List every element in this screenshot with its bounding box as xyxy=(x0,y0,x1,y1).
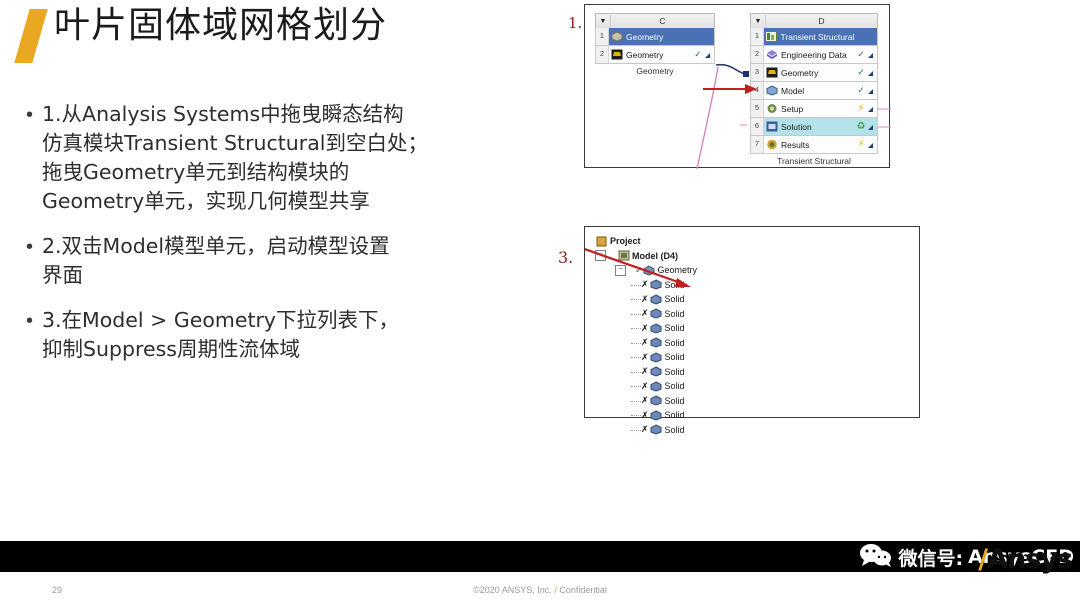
wechat-icon xyxy=(859,543,893,572)
model-tree-panel: Project − Model (D4) − ✓ Geometry ✗Solid xyxy=(584,226,920,418)
suppressed-icon: ✗ xyxy=(641,381,649,392)
tree-guide xyxy=(631,342,641,344)
collapse-icon[interactable]: − xyxy=(615,265,626,276)
tree-guide xyxy=(631,371,641,373)
tree-guide xyxy=(631,313,641,315)
page-title: 叶片固体域网格划分 xyxy=(22,6,387,63)
tree-guide xyxy=(631,356,641,358)
solid-body-icon xyxy=(650,366,663,377)
list-item[interactable]: ✗Solid xyxy=(593,336,697,351)
workbench-cell-row[interactable]: 1Geometry xyxy=(595,28,715,46)
resize-handle[interactable] xyxy=(868,122,877,132)
cell-status: ✓ xyxy=(691,49,705,60)
solid-body-icon xyxy=(650,323,663,334)
suppressed-icon: ✗ xyxy=(641,337,649,348)
resize-handle[interactable] xyxy=(705,50,714,60)
suppressed-icon: ✗ xyxy=(641,323,649,334)
list-item: • 2.双击Model模型单元，启动模型设置 界面 xyxy=(26,232,496,290)
tree-label: Solid xyxy=(663,309,685,319)
tree-label: Solid xyxy=(663,410,685,420)
suppressed-icon: ✗ xyxy=(641,352,649,363)
column-d-header: ▼ D xyxy=(750,13,878,28)
row-index: 1 xyxy=(596,28,609,45)
cell-status: ♻ xyxy=(854,121,868,132)
collapse-icon[interactable]: − xyxy=(595,250,606,261)
workbench-cell-row[interactable]: 7Results⚡ xyxy=(750,136,878,154)
row-index: 3 xyxy=(751,64,764,81)
tree-label: Solid xyxy=(663,425,685,435)
link-node-square xyxy=(743,71,749,77)
workbench-cell-row[interactable]: 5Setup⚡ xyxy=(750,100,878,118)
bullet-dot-icon: • xyxy=(26,100,42,216)
solid-body-icon xyxy=(650,381,663,392)
annotation-step-3: 3. xyxy=(558,248,573,267)
workbench-cell-row[interactable]: 2Geometry✓ xyxy=(595,46,715,64)
row-index: 4 xyxy=(751,82,764,99)
cell-status: ⚡ xyxy=(854,103,868,114)
tree-label: Solid xyxy=(663,294,685,304)
resize-handle[interactable] xyxy=(868,140,877,150)
row-index: 2 xyxy=(596,46,609,63)
workbench-system-d: ▼ D 1Transient Structural2Engineering Da… xyxy=(750,13,878,166)
suppressed-icon: ✗ xyxy=(641,424,649,435)
row-index: 2 xyxy=(751,46,764,63)
tree-label: Solid xyxy=(663,323,685,333)
bullet-list: • 1.从Analysis Systems中拖曳瞬态结构 仿真模块Transie… xyxy=(26,100,496,380)
transient-structural-icon xyxy=(764,31,779,42)
row-index: 7 xyxy=(751,136,764,153)
tree-label: Geometry xyxy=(656,265,698,275)
cell-label: Engineering Data xyxy=(779,50,854,60)
bullet-text: 1.从Analysis Systems中拖曳瞬态结构 仿真模块Transient… xyxy=(42,100,428,216)
watermark-label: 微信号: xyxy=(898,544,963,571)
list-item: • 1.从Analysis Systems中拖曳瞬态结构 仿真模块Transie… xyxy=(26,100,496,216)
project-folder-icon xyxy=(595,236,608,247)
title-text: 叶片固体域网格划分 xyxy=(54,6,387,46)
cell-label: Solution xyxy=(779,122,854,132)
tree-label: Model (D4) xyxy=(630,251,678,261)
cell-label: Geometry xyxy=(779,68,854,78)
workbench-system-c: ▼ C 1Geometry2Geometry✓ Geometry xyxy=(595,13,715,76)
list-item[interactable]: ✗Solid xyxy=(593,408,697,423)
workbench-cell-row[interactable]: 6Solution♻ xyxy=(750,118,878,136)
suppressed-icon: ✗ xyxy=(641,308,649,319)
cell-label: Transient Structural xyxy=(779,32,855,42)
cell-label: Geometry xyxy=(624,32,691,42)
list-item: • 3.在Model > Geometry下拉列表下， 抑制Suppress周期… xyxy=(26,306,496,364)
annotation-step-1: 1. xyxy=(568,14,582,32)
tree-guide xyxy=(631,327,641,329)
list-item[interactable]: ✗Solid xyxy=(593,321,697,336)
list-item[interactable]: ✗Solid xyxy=(593,379,697,394)
tree-guide xyxy=(631,385,641,387)
bullet-dot-icon: • xyxy=(26,306,42,364)
column-d-caption: Transient Structural xyxy=(750,156,878,166)
solution-icon xyxy=(764,121,779,132)
solid-body-icon xyxy=(650,352,663,363)
dm-geometry-icon xyxy=(609,49,624,60)
tree-item-geometry[interactable]: − ✓ Geometry xyxy=(593,263,697,278)
cell-label: Geometry xyxy=(624,50,691,60)
chevron-down-icon[interactable]: ▼ xyxy=(751,15,766,28)
setup-icon xyxy=(764,103,779,114)
list-item[interactable]: ✗Solid xyxy=(593,394,697,409)
results-icon xyxy=(764,139,779,150)
cell-status: ✓ xyxy=(854,49,868,60)
check-icon: ✓ xyxy=(857,49,865,59)
slide-canvas: 叶片固体域网格划分 • 1.从Analysis Systems中拖曳瞬态结构 仿… xyxy=(0,0,1080,608)
workbench-cell-row[interactable]: 2Engineering Data✓ xyxy=(750,46,878,64)
cell-status: ⚡ xyxy=(854,139,868,150)
check-icon: ✓ xyxy=(694,49,702,59)
tree-label: Solid xyxy=(663,280,685,290)
dm-geometry-icon xyxy=(764,67,779,78)
bullet-text: 3.在Model > Geometry下拉列表下， 抑制Suppress周期性流… xyxy=(42,306,399,364)
column-c-label: C xyxy=(611,16,714,26)
check-icon: ✓ xyxy=(635,265,643,276)
row-index: 5 xyxy=(751,100,764,117)
bullet-dot-icon: • xyxy=(26,232,42,290)
copyright-slash: / xyxy=(554,585,557,595)
cell-label: Results xyxy=(779,140,854,150)
copyright-notice: ©2020 ANSYS, Inc. / Confidential xyxy=(0,585,1080,595)
suppressed-icon: ✗ xyxy=(641,279,649,290)
solid-body-icon xyxy=(650,308,663,319)
workbench-cell-row[interactable]: 4Model✓ xyxy=(750,82,878,100)
engineering-data-icon xyxy=(764,49,779,60)
column-c-caption: Geometry xyxy=(595,66,715,76)
column-c-header: ▼ C xyxy=(595,13,715,28)
share-link-curve xyxy=(716,65,745,74)
resize-handle[interactable] xyxy=(868,68,877,78)
lightning-icon: ⚡ xyxy=(857,139,864,150)
tree-label: Solid xyxy=(663,352,685,362)
ansys-logo-slash: / xyxy=(978,544,987,575)
tree-label: Solid xyxy=(663,381,685,391)
tree-label: Solid xyxy=(663,367,685,377)
tree-guide xyxy=(631,429,641,431)
solid-body-icon xyxy=(650,424,663,435)
suppressed-icon: ✗ xyxy=(641,395,649,406)
tree-item-model[interactable]: − Model (D4) xyxy=(593,249,697,264)
check-icon: ✓ xyxy=(857,67,865,77)
workbench-cell-row[interactable]: 3Geometry✓ xyxy=(750,64,878,82)
workbench-cell-row[interactable]: 1Transient Structural xyxy=(750,28,878,46)
refresh-icon: ♻ xyxy=(857,121,866,132)
row-index: 1 xyxy=(751,28,764,45)
list-item[interactable]: ✗Solid xyxy=(593,292,697,307)
suppressed-icon: ✗ xyxy=(641,410,649,421)
tree-item-project[interactable]: Project xyxy=(593,234,697,249)
solid-body-icon xyxy=(650,337,663,348)
workbench-schematic-panel: ▼ C 1Geometry2Geometry✓ Geometry ▼ D 1Tr… xyxy=(584,4,890,168)
list-item[interactable]: ✗Solid xyxy=(593,350,697,365)
geometry-cell-icon xyxy=(609,31,624,42)
solid-body-list: ✗Solid✗Solid✗Solid✗Solid✗Solid✗Solid✗Sol… xyxy=(593,278,697,438)
resize-handle[interactable] xyxy=(868,104,877,114)
lightning-icon: ⚡ xyxy=(857,103,864,114)
list-item[interactable]: ✗Solid xyxy=(593,307,697,322)
solid-body-icon xyxy=(650,410,663,421)
suppressed-icon: ✗ xyxy=(641,294,649,305)
ansys-logo: /Ansys xyxy=(978,544,1072,575)
row-index: 6 xyxy=(751,118,764,135)
copyright-post: Confidential xyxy=(559,585,607,595)
solid-body-icon xyxy=(650,395,663,406)
tree-guide xyxy=(631,414,641,416)
tree-label: Solid xyxy=(663,396,685,406)
tree-guide xyxy=(631,284,641,286)
solid-body-icon xyxy=(650,294,663,305)
ansys-logo-text: Ansys xyxy=(987,544,1072,575)
geometry-tree-icon xyxy=(643,265,656,276)
tree-guide xyxy=(631,298,641,300)
cell-status: ✓ xyxy=(854,85,868,96)
bullet-text: 2.双击Model模型单元，启动模型设置 界面 xyxy=(42,232,390,290)
arrow-to-model xyxy=(703,84,757,94)
cell-status: ✓ xyxy=(854,67,868,78)
tree-guide xyxy=(631,400,641,402)
transfer-curve xyxy=(697,67,718,169)
resize-handle[interactable] xyxy=(868,50,877,60)
list-item[interactable]: ✗Solid xyxy=(593,365,697,380)
suppressed-icon: ✗ xyxy=(641,366,649,377)
model-icon xyxy=(764,85,779,96)
resize-handle[interactable] xyxy=(868,86,877,96)
cell-label: Model xyxy=(779,86,854,96)
list-item[interactable]: ✗Solid xyxy=(593,423,697,438)
column-d-label: D xyxy=(766,16,877,26)
cell-label: Setup xyxy=(779,104,854,114)
column-d-rows: 1Transient Structural2Engineering Data✓3… xyxy=(750,28,878,154)
list-item[interactable]: ✗Solid xyxy=(593,278,697,293)
outline-tree: Project − Model (D4) − ✓ Geometry ✗Solid xyxy=(593,234,697,437)
check-icon: ✓ xyxy=(857,85,865,95)
chevron-down-icon[interactable]: ▼ xyxy=(596,15,611,28)
tree-label: Project xyxy=(608,236,641,246)
column-c-rows: 1Geometry2Geometry✓ xyxy=(595,28,715,64)
model-tree-icon xyxy=(617,250,630,261)
accent-slash-icon xyxy=(14,9,47,63)
solid-body-icon xyxy=(650,279,663,290)
tree-label: Solid xyxy=(663,338,685,348)
copyright-pre: ©2020 ANSYS, Inc. xyxy=(473,585,552,595)
